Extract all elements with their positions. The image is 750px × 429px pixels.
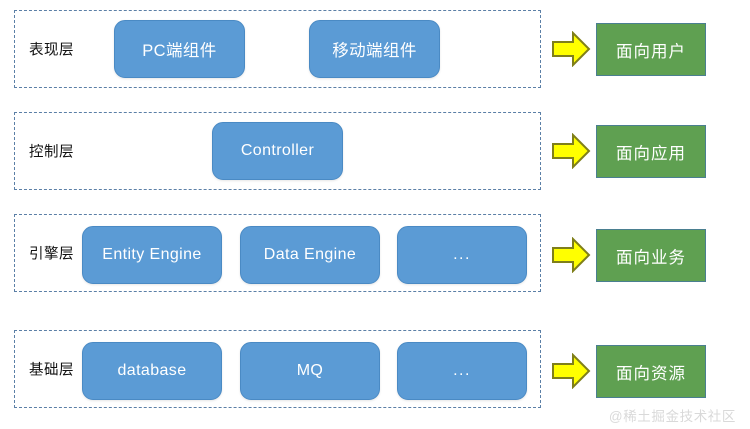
component-box-pc-client[interactable]: PC端组件 [114,20,245,78]
architecture-diagram: 表现层 PC端组件 移动端组件 面向用户 控制层 Controller 面向应用… [0,0,750,429]
layer-label-infrastructure: 基础层 [29,359,74,380]
component-box-entity-engine[interactable]: Entity Engine [82,226,222,284]
target-box-resource[interactable]: 面向资源 [596,345,706,398]
component-box-mobile-client[interactable]: 移动端组件 [309,20,440,78]
target-box-business[interactable]: 面向业务 [596,229,706,282]
right-arrow-icon-presentation [551,31,591,67]
right-arrow-icon-infrastructure [551,353,591,389]
layer-container-presentation: 表现层 [14,10,541,88]
component-box-controller[interactable]: Controller [212,122,343,180]
component-box-engine-more[interactable]: ... [397,226,527,284]
component-box-mq[interactable]: MQ [240,342,380,400]
layer-label-control: 控制层 [29,141,74,162]
component-box-infrastructure-more[interactable]: ... [397,342,527,400]
right-arrow-icon-engine [551,237,591,273]
target-box-application[interactable]: 面向应用 [596,125,706,178]
layer-label-engine: 引擎层 [29,243,74,264]
layer-label-presentation: 表现层 [29,39,74,60]
right-arrow-icon-control [551,133,591,169]
watermark: @稀土掘金技术社区 [609,405,736,425]
component-box-database[interactable]: database [82,342,222,400]
component-box-data-engine[interactable]: Data Engine [240,226,380,284]
target-box-user[interactable]: 面向用户 [596,23,706,76]
